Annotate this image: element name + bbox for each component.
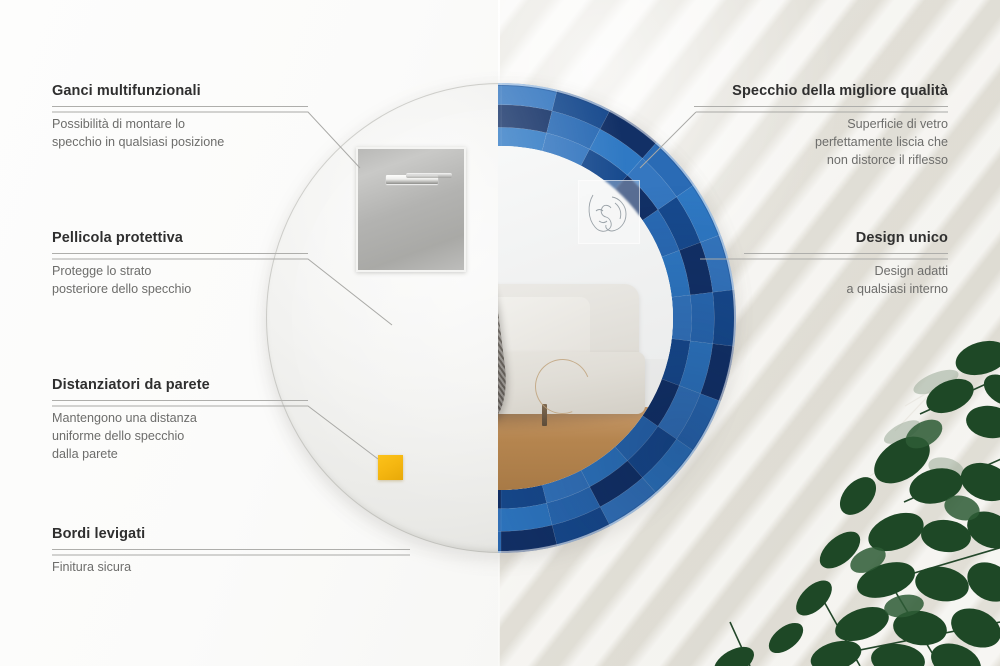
feature-label-spacer: Distanziatori da parete Mantengono una d… [52,377,308,464]
feature-title: Design unico [744,230,948,246]
feature-rule [52,549,410,550]
feature-rule [52,106,308,107]
feature-rule [52,253,308,254]
feature-label-edges: Bordi levigati Finitura sicura [52,526,410,577]
feature-rule [694,106,948,107]
feature-label-film: Pellicola protettiva Protegge lo strato … [52,230,308,299]
feature-rule [52,400,308,401]
feature-description: Possibilità di montare lo specchio in qu… [52,116,308,152]
wall-spacer-block [378,455,403,480]
hanging-hook-plate [356,147,466,272]
feature-title: Distanziatori da parete [52,377,308,393]
watermark-card [578,180,640,244]
feature-title: Specchio della migliore qualità [694,83,948,99]
foliage-decoration [690,336,1000,666]
feature-description: Finitura sicura [52,559,410,577]
feature-rule [744,253,948,254]
round-mirror-product [266,83,736,553]
feature-description: Superficie di vetro perfettamente liscia… [694,116,948,170]
feature-description: Mantengono una distanza uniforme dello s… [52,410,308,464]
infographic-canvas: Ganci multifunzionali Possibilità di mon… [0,0,1000,666]
feature-title: Ganci multifunzionali [52,83,308,99]
feature-title: Pellicola protettiva [52,230,308,246]
feature-title: Bordi levigati [52,526,410,542]
feature-label-quality: Specchio della migliore qualità Superfic… [694,83,948,170]
feature-description: Design adatti a qualsiasi interno [744,263,948,299]
face-sketch-icon [579,181,639,243]
feature-label-design: Design unico Design adatti a qualsiasi i… [744,230,948,299]
feature-description: Protegge lo strato posteriore dello spec… [52,263,308,299]
hook-slot-highlight [406,173,452,178]
feature-label-hooks: Ganci multifunzionali Possibilità di mon… [52,83,308,152]
